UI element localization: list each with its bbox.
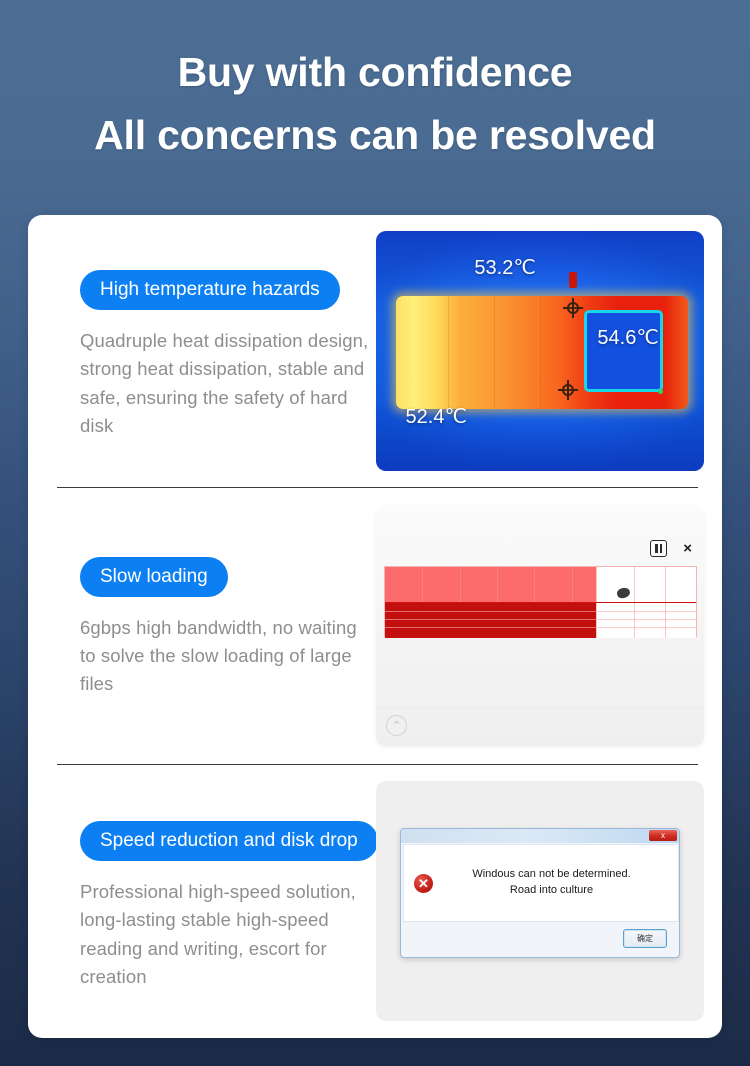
features-card: High temperature hazards Quadruple heat … — [28, 215, 722, 1038]
feature-media-loading: × — [376, 487, 722, 764]
headline-line-1: Buy with confidence — [0, 52, 750, 93]
feature-row-high-temperature: High temperature hazards Quadruple heat … — [28, 215, 722, 487]
headline-line-2: All concerns can be resolved — [0, 115, 750, 156]
progress-bar-top[interactable] — [385, 567, 696, 602]
close-icon[interactable]: x — [649, 830, 677, 841]
progress-bar-top-fill — [385, 567, 596, 602]
thermal-temp-chip: 54.6℃ — [597, 325, 658, 350]
dialog-message-line-2: Road into culture — [433, 883, 670, 899]
feature-pill-speed-reduction[interactable]: Speed reduction and disk drop — [80, 821, 378, 861]
error-icon: ✕ — [414, 874, 433, 893]
feature-media-thermal: 53.2℃ 54.6℃ 52.4℃ — [376, 215, 722, 487]
feature-text-block: Slow loading 6gbps high bandwidth, no wa… — [28, 487, 376, 764]
error-dialog: x ✕ Windous can not be determined. Road … — [400, 828, 680, 958]
feature-description: 6gbps high bandwidth, no waiting to solv… — [80, 614, 376, 698]
progress-bars — [384, 566, 697, 637]
dialog-message: Windous can not be determined. Road into… — [433, 867, 678, 898]
feature-text-block: High temperature hazards Quadruple heat … — [28, 215, 376, 487]
feature-row-speed-reduction: Speed reduction and disk drop Profession… — [28, 764, 722, 1038]
thermal-stripe — [494, 296, 495, 409]
progress-bar-bottom-fill — [385, 603, 596, 638]
feature-media-error: x ✕ Windous can not be determined. Road … — [376, 764, 722, 1038]
chevron-up-icon[interactable]: ⌃ — [386, 715, 407, 736]
thermal-image: 53.2℃ 54.6℃ 52.4℃ — [376, 231, 704, 471]
pause-icon[interactable] — [650, 540, 667, 557]
ok-button[interactable]: 确定 — [623, 929, 667, 948]
thermal-cool-chip-region — [584, 310, 663, 392]
dialog-titlebar: x — [401, 829, 679, 843]
error-dialog-panel: x ✕ Windous can not be determined. Road … — [376, 781, 704, 1021]
thermal-temp-bottom: 52.4℃ — [406, 404, 467, 429]
close-icon[interactable]: × — [683, 541, 692, 556]
footer-divider — [376, 707, 704, 708]
progress-bar-bottom[interactable] — [385, 603, 696, 638]
feature-text-block: Speed reduction and disk drop Profession… — [28, 764, 376, 1038]
thermal-crosshair-icon — [558, 380, 578, 400]
dialog-body: ✕ Windous can not be determined. Road in… — [403, 844, 679, 922]
thermal-probe-marker — [569, 272, 577, 288]
feature-description: Quadruple heat dissipation design, stron… — [80, 327, 376, 439]
thermal-crosshair-icon — [563, 298, 583, 318]
dialog-footer: 确定 — [403, 922, 679, 955]
loading-progress-window: × — [376, 506, 704, 746]
thermal-temp-top: 53.2℃ — [474, 255, 535, 280]
feature-pill-high-temperature[interactable]: High temperature hazards — [80, 270, 340, 310]
feature-description: Professional high-speed solution, long-l… — [80, 878, 376, 990]
feature-pill-slow-loading[interactable]: Slow loading — [80, 557, 228, 597]
feature-row-slow-loading: Slow loading 6gbps high bandwidth, no wa… — [28, 487, 722, 764]
page-header: Buy with confidence All concerns can be … — [0, 0, 750, 156]
thermal-stripe — [448, 296, 449, 409]
dialog-message-line-1: Windous can not be determined. — [433, 867, 670, 883]
window-controls: × — [650, 540, 692, 557]
thermal-stripe — [540, 296, 541, 409]
cursor-blob-icon — [616, 586, 631, 600]
